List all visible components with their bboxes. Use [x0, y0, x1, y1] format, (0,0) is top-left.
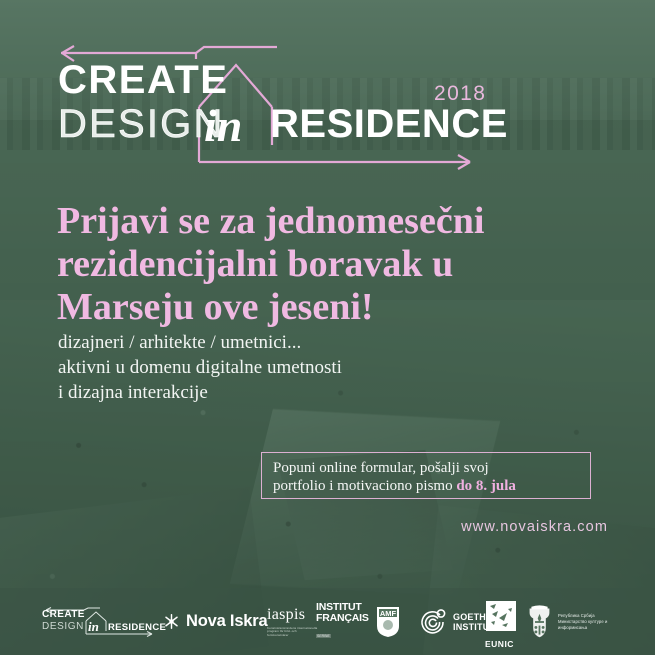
cta-line-2: portfolio i motivaciono pismo do 8. jula	[273, 477, 579, 495]
header-logotype: CREATE DESIGN in RESIDENCE 2018	[0, 45, 655, 175]
ministry-line-2: Министарство културе и информисања	[558, 619, 630, 631]
footer-logo-nova-iskra[interactable]: Nova Iskra	[163, 588, 267, 655]
footer-logo-iaspis[interactable]: iaspis Konstnärsnämndens internationella…	[267, 588, 319, 655]
logo-year-text: 2018	[434, 82, 486, 106]
subtitle-line-2: aktivni u domenu digitalne umetnosti	[58, 355, 528, 380]
amf-shield-icon: AMF	[375, 606, 401, 638]
iaspis-subtitle: Konstnärsnämndens internationella progra…	[267, 627, 319, 638]
footer-logo-amf[interactable]: AMF	[375, 588, 401, 655]
asterisk-spark-icon	[163, 613, 180, 630]
footer-logo-ministry-of-culture-serbia[interactable]: Република Србија Министарство културе и …	[526, 588, 630, 655]
cta-line-1: Popuni online formular, pošalji svoj	[273, 459, 579, 477]
website-url[interactable]: www.novaiskra.com	[0, 519, 608, 535]
footer-logo-eunic[interactable]: EUNIC	[485, 588, 519, 655]
headline-line-3: Marseju ove jeseni!	[57, 286, 597, 329]
mini-design-text: DESIGN	[42, 621, 84, 632]
call-to-action-box: Popuni online formular, pošalji svoj por…	[261, 452, 591, 499]
institut-francais-line-1: INSTITUT	[316, 602, 366, 613]
subtitle-line-1: dizajneri / arhitekte / umetnici...	[58, 330, 528, 355]
headline: Prijavi se za jednomesečni rezidencijaln…	[57, 200, 597, 329]
logo-in-text: in	[204, 103, 242, 149]
cta-deadline: do 8. jula	[456, 478, 516, 494]
logo-design-text: DESIGN	[58, 103, 225, 145]
mini-create-text: CREATE	[42, 609, 85, 620]
eunic-square-icon	[485, 600, 517, 632]
subtitle-line-3: i dizajna interakcije	[58, 380, 528, 405]
footer-logos: CREATE DESIGN in RESIDENCE	[30, 588, 630, 655]
footer-logo-goethe-institut[interactable]: GOETHE INSTITUT	[418, 588, 495, 655]
nova-iskra-label: Nova Iskra	[186, 612, 267, 631]
footer-logo-institut-francais[interactable]: INSTITUT FRANÇAIS SERBIE	[316, 588, 366, 655]
goethe-spiral-icon	[418, 607, 448, 637]
headline-line-2: rezidencijalni boravak u	[57, 243, 597, 286]
logo-residence-text: RESIDENCE	[270, 103, 508, 145]
poster-canvas: CREATE DESIGN in RESIDENCE 2018 Prijavi …	[0, 0, 655, 655]
footer-logo-create-design-in-residence[interactable]: CREATE DESIGN in RESIDENCE	[38, 588, 158, 655]
footer-logo-strip: CREATE DESIGN in RESIDENCE	[0, 588, 655, 655]
headline-line-1: Prijavi se za jednomesečni	[57, 200, 597, 243]
amf-label: AMF	[380, 609, 397, 618]
cta-line-2-prefix: portfolio i motivaciono pismo	[273, 478, 456, 494]
eunic-label: EUNIC	[485, 639, 519, 649]
subtitle: dizajneri / arhitekte / umetnici... akti…	[58, 330, 528, 405]
logo-create-text: CREATE	[58, 59, 228, 101]
institut-francais-subtitle: SERBIE	[316, 634, 331, 638]
serbian-coat-of-arms-icon	[526, 603, 553, 641]
iaspis-label: iaspis	[267, 606, 319, 624]
institut-francais-line-2: FRANÇAIS	[316, 613, 366, 624]
mini-in-text: in	[88, 619, 99, 635]
mini-residence-text: RESIDENCE	[108, 622, 166, 633]
